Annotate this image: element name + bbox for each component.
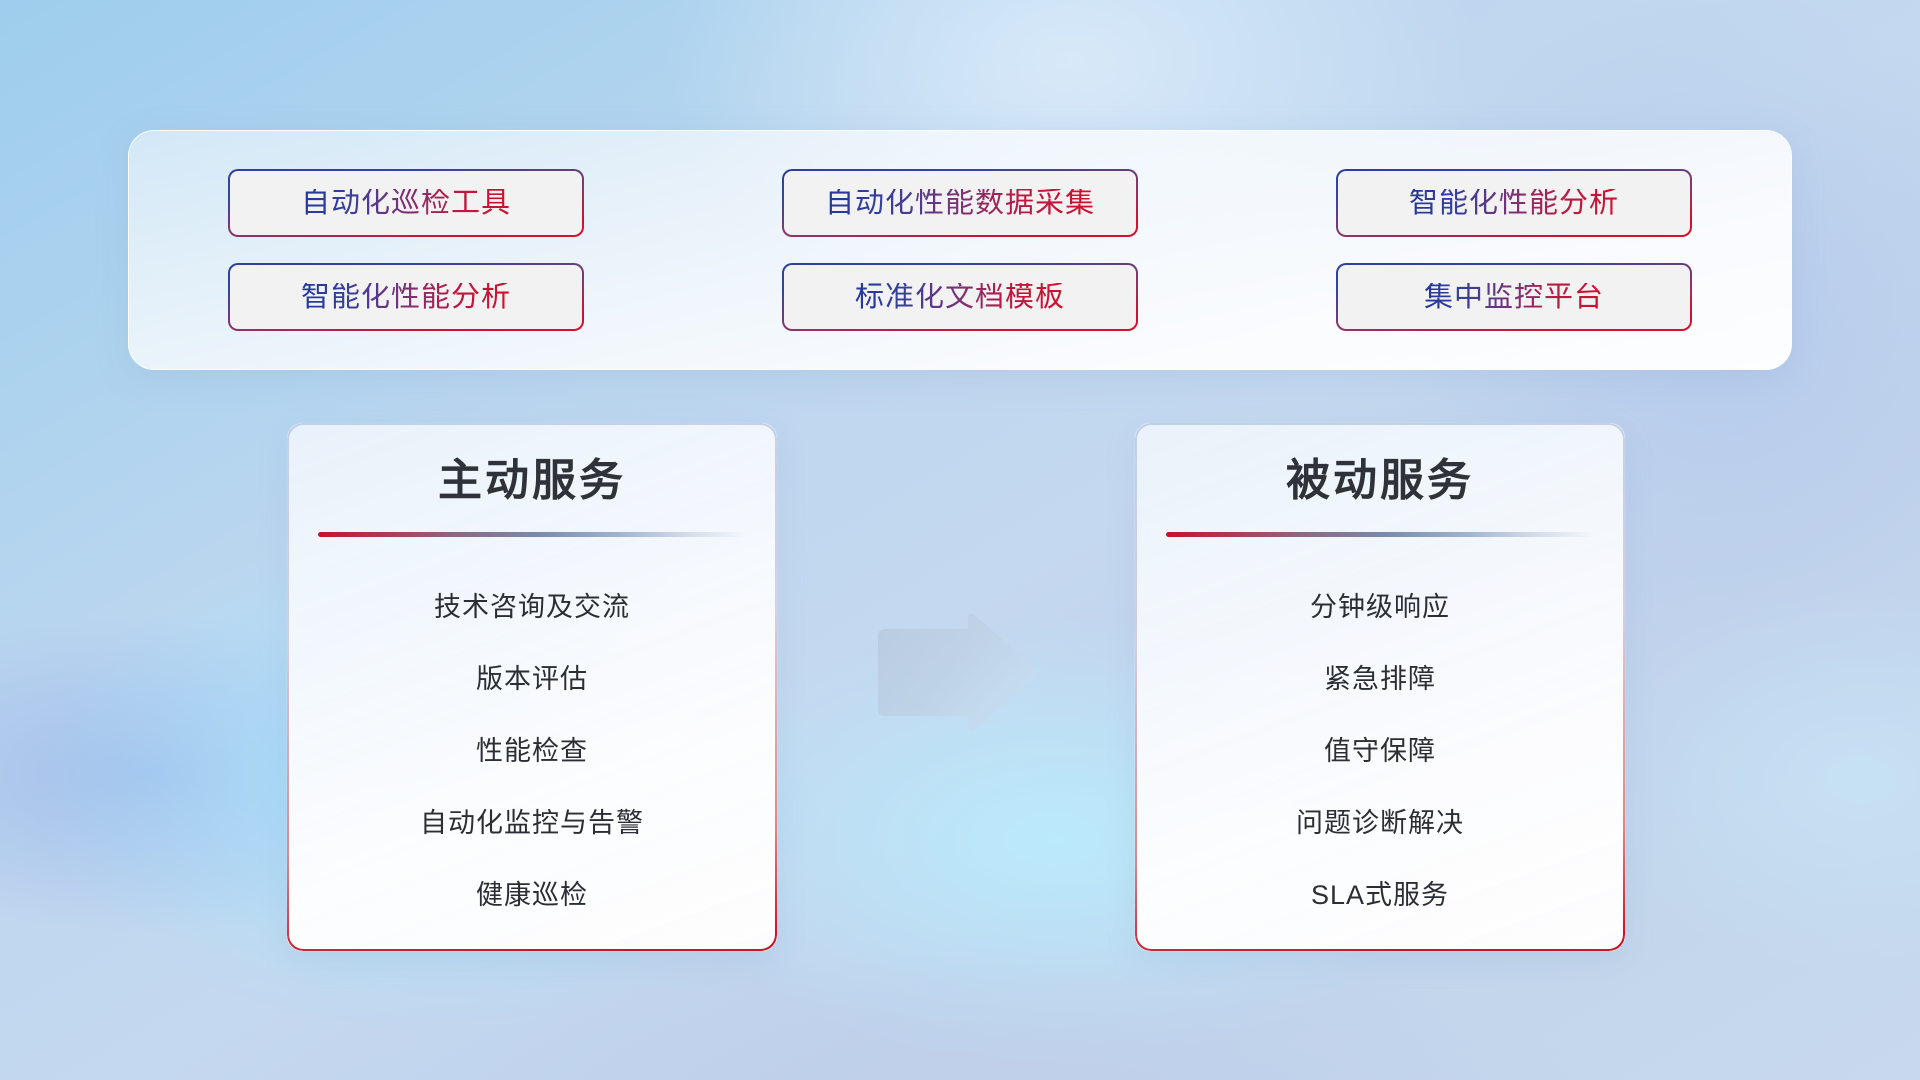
service-card-active[interactable]: 主动服务 技术咨询及交流 版本评估 性能检查 自动化监控与告警 健康巡检 [286, 422, 778, 952]
list-item[interactable]: 性能检查 [287, 715, 777, 787]
list-item[interactable]: SLA式服务 [1135, 859, 1625, 931]
slide-canvas: 自动化巡检工具 自动化性能数据采集 智能化性能分析 智能化性能分析 标准化文档模… [0, 0, 1920, 1080]
service-list-passive: 分钟级响应 紧急排障 值守保障 问题诊断解决 SLA式服务 [1135, 537, 1625, 931]
capability-row-2: 智能化性能分析 标准化文档模板 集中监控平台 [129, 263, 1791, 331]
capability-pill-automation-inspection-tool[interactable]: 自动化巡检工具 [228, 169, 584, 237]
list-item[interactable]: 问题诊断解决 [1135, 787, 1625, 859]
capability-pill-label: 自动化性能数据采集 [825, 189, 1095, 218]
capability-panel: 自动化巡检工具 自动化性能数据采集 智能化性能分析 智能化性能分析 标准化文档模… [128, 130, 1792, 370]
card-title-passive: 被动服务 [1135, 455, 1625, 508]
list-item[interactable]: 版本评估 [287, 643, 777, 715]
capability-pill-label: 自动化巡检工具 [301, 189, 511, 218]
list-item[interactable]: 健康巡检 [287, 859, 777, 931]
list-item[interactable]: 自动化监控与告警 [287, 787, 777, 859]
list-item[interactable]: 技术咨询及交流 [287, 571, 777, 643]
capability-pill-label: 标准化文档模板 [855, 283, 1065, 312]
capability-pill-automated-performance-data-collection[interactable]: 自动化性能数据采集 [782, 169, 1138, 237]
capability-pill-centralized-monitoring-platform[interactable]: 集中监控平台 [1336, 263, 1692, 331]
list-item[interactable]: 紧急排障 [1135, 643, 1625, 715]
capability-pill-intelligent-performance-analysis[interactable]: 智能化性能分析 [1336, 169, 1692, 237]
list-item[interactable]: 值守保障 [1135, 715, 1625, 787]
capability-pill-standardized-document-template[interactable]: 标准化文档模板 [782, 263, 1138, 331]
service-list-active: 技术咨询及交流 版本评估 性能检查 自动化监控与告警 健康巡检 [287, 537, 777, 931]
capability-pill-label: 智能化性能分析 [301, 283, 511, 312]
capability-pill-label: 智能化性能分析 [1409, 189, 1619, 218]
list-item[interactable]: 分钟级响应 [1135, 571, 1625, 643]
capability-pill-intelligent-performance-analysis-2[interactable]: 智能化性能分析 [228, 263, 584, 331]
capability-pill-label: 集中监控平台 [1424, 283, 1604, 312]
flow-arrow-icon [872, 608, 1040, 738]
card-title-active: 主动服务 [287, 455, 777, 508]
capability-row-1: 自动化巡检工具 自动化性能数据采集 智能化性能分析 [129, 169, 1791, 237]
service-card-passive[interactable]: 被动服务 分钟级响应 紧急排障 值守保障 问题诊断解决 SLA式服务 [1134, 422, 1626, 952]
